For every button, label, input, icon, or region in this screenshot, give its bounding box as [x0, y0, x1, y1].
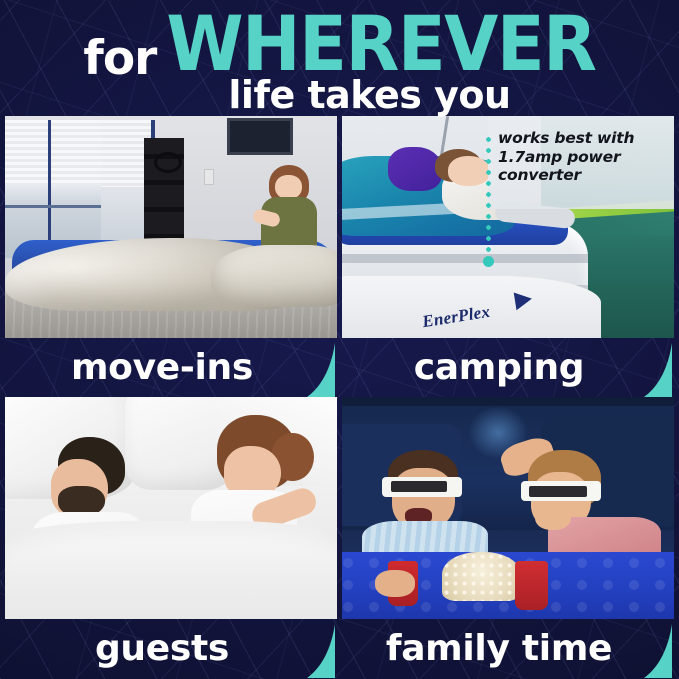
scene-move-ins: [5, 116, 337, 338]
label-bar-move-ins: move-ins: [5, 338, 337, 397]
panel-guests: guests: [5, 397, 337, 678]
white-duvet: [5, 521, 337, 619]
red-cup-right: [515, 561, 548, 610]
scene-camping: EnerPlex works best with 1.7amp power co…: [342, 116, 674, 338]
window-mullion: [48, 120, 51, 258]
panel-label-move-ins: move-ins: [5, 338, 337, 397]
girl-hand: [535, 504, 572, 531]
mattress-ridge-1: [342, 254, 588, 263]
callout-text: works best with 1.7amp power converter: [498, 129, 664, 184]
teal-wedge-shape: [305, 624, 335, 678]
teal-wedge-shape: [642, 343, 672, 397]
balcony-rail: [5, 205, 101, 208]
teal-wedge-shape: [305, 343, 335, 397]
headline-line-1: forWHEREVER: [0, 9, 679, 82]
label-bar-camping: camping: [342, 338, 674, 397]
teal-corner-wedge: [642, 343, 672, 397]
headline-wherever: WHEREVER: [166, 6, 595, 82]
photo-guests: [5, 397, 337, 619]
scene-guests: [5, 397, 337, 619]
header: forWHEREVER life takes you: [0, 0, 679, 118]
teal-corner-wedge: [305, 624, 335, 678]
dotted-leader-line: [486, 134, 491, 258]
scene-family-time: [342, 397, 674, 619]
face: [275, 175, 302, 200]
panel-family-time: family time: [342, 397, 674, 678]
boy-hand: [375, 570, 415, 597]
label-bar-guests: guests: [5, 619, 337, 678]
face: [448, 156, 491, 186]
wall-picture-frame: [227, 118, 293, 155]
light-switch: [204, 169, 214, 185]
teal-corner-wedge: [642, 624, 672, 678]
panel-label-camping: camping: [342, 338, 674, 397]
beige-sheet-right: [211, 245, 337, 307]
promo-image-root: forWHEREVER life takes you: [0, 0, 679, 679]
girl-3d-glasses: [521, 481, 601, 501]
panel-label-guests: guests: [5, 619, 337, 678]
teal-corner-wedge: [305, 343, 335, 397]
purple-pillow: [388, 147, 441, 191]
panel-label-family-time: family time: [342, 619, 674, 678]
boy-3d-glasses: [382, 477, 462, 497]
panel-move-ins: move-ins: [5, 116, 337, 397]
photo-move-ins: [5, 116, 337, 338]
label-bar-family-time: family time: [342, 619, 674, 678]
enerplex-logo-mark-icon: [513, 290, 533, 310]
headline-line-2: life takes you: [0, 76, 679, 114]
shelf-object: [154, 152, 182, 173]
teal-wedge-shape: [642, 624, 672, 678]
popcorn-bowl: [442, 552, 522, 601]
woman-figure: [261, 165, 317, 254]
window-left: [5, 120, 105, 258]
photo-camping: EnerPlex works best with 1.7amp power co…: [342, 116, 674, 338]
panel-grid: move-ins: [0, 112, 679, 679]
photo-family-time: [342, 397, 674, 619]
headline-subtitle: life takes you: [228, 73, 510, 117]
panel-camping: EnerPlex works best with 1.7amp power co…: [342, 116, 674, 397]
